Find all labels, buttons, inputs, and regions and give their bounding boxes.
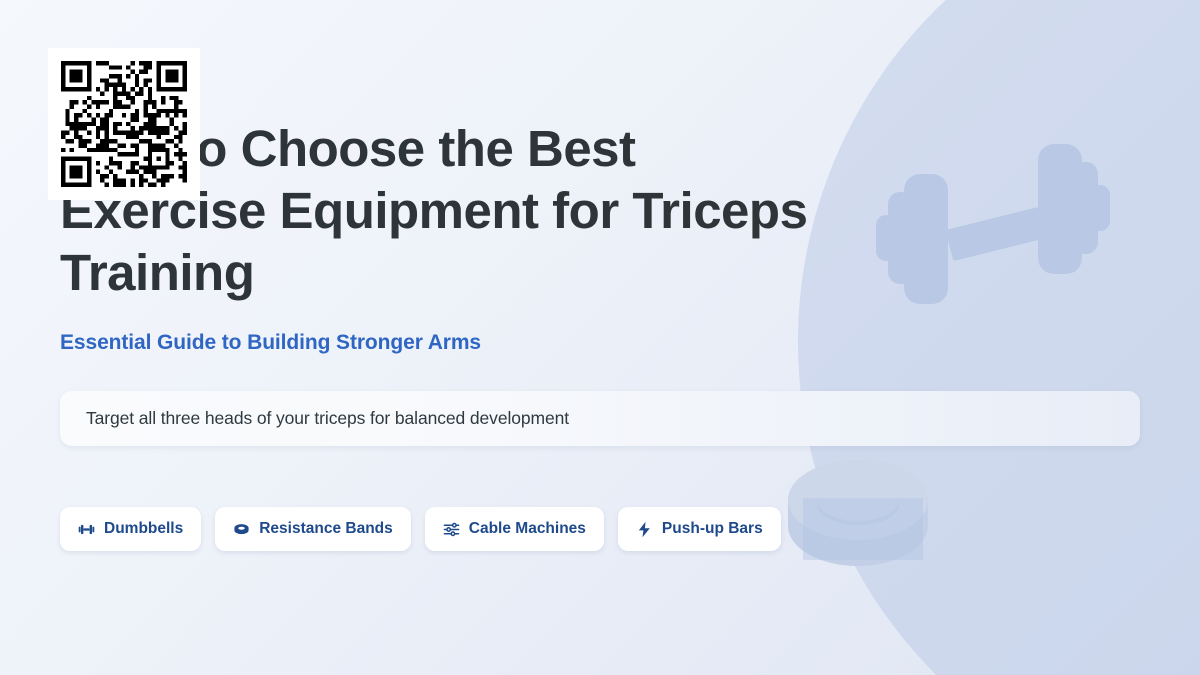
highlight-banner: Target all three heads of your triceps f… <box>60 391 1140 446</box>
chip-cable-machines[interactable]: Cable Machines <box>425 507 604 551</box>
hero-banner: How to Choose the Best Exercise Equipmen… <box>0 0 1200 675</box>
page-subtitle: Essential Guide to Building Stronger Arm… <box>60 331 481 355</box>
highlight-banner-text: Target all three heads of your triceps f… <box>86 408 569 429</box>
chip-label: Push-up Bars <box>662 520 763 538</box>
chip-label: Dumbbells <box>104 520 183 538</box>
chip-label: Cable Machines <box>469 520 586 538</box>
chip-resistance-bands[interactable]: Resistance Bands <box>215 507 411 551</box>
hero-content: How to Choose the Best Exercise Equipmen… <box>60 0 1140 675</box>
chip-label: Resistance Bands <box>259 520 393 538</box>
sliders-icon <box>443 521 460 538</box>
qr-code[interactable] <box>48 48 200 200</box>
ring-icon <box>233 521 250 538</box>
lightning-bolt-icon <box>636 521 653 538</box>
equipment-chip-list: Dumbbells Resistance Bands <box>60 507 795 551</box>
dumbbell-icon <box>78 521 95 538</box>
chip-dumbbells[interactable]: Dumbbells <box>60 507 201 551</box>
chip-push-up-bars[interactable]: Push-up Bars <box>618 507 781 551</box>
